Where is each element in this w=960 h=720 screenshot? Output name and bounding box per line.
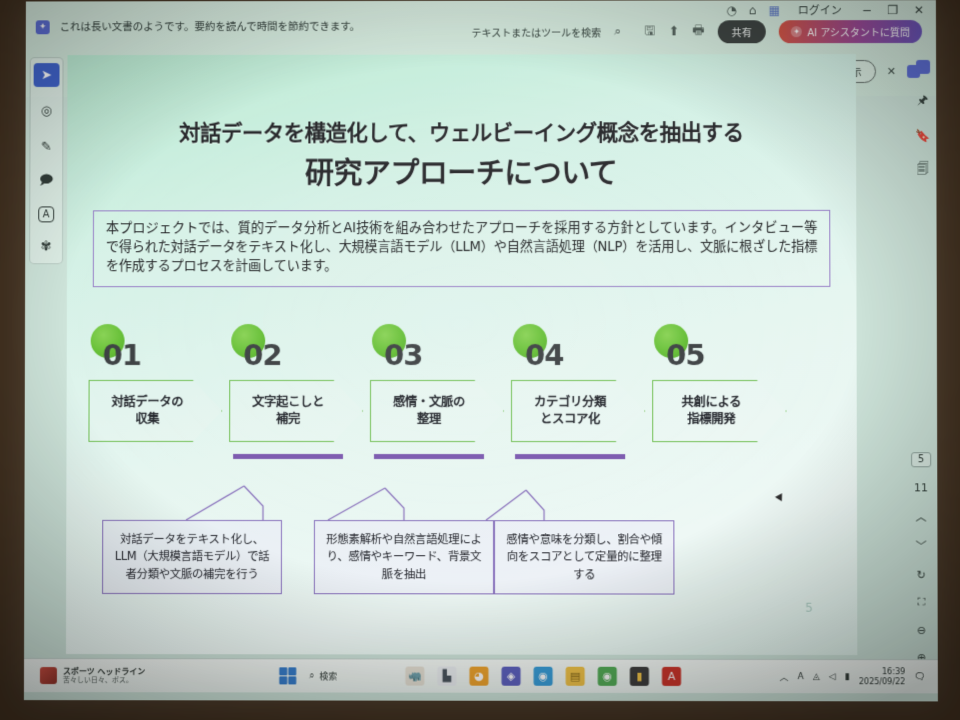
clock-date: 2025/09/22 [859,677,905,687]
edge-app-icon[interactable]: ◉ [534,667,553,686]
page-navigation-controls: 5 11 ︿ ﹀ ↻ ⛶ ⊖ ⊕ [911,452,932,664]
draw-tool[interactable]: ✎ [33,135,59,159]
taskbar-clock[interactable]: 16:39 2025/09/22 [859,667,905,686]
print-icon[interactable]: 🖶 [692,21,704,43]
chevron-down-icon[interactable]: ﹀ [916,539,927,555]
teams-app-icon[interactable]: ◈ [502,667,521,686]
projected-screen-photo: ◔ ⌂ ▦ ログイン − ❐ ✕ ✦ これは長い文書のようです。要約を読んで時間… [0,0,960,720]
ai-assistant-icon[interactable] [916,60,930,74]
system-tray: ︿ A ◬ ◁ ▮ 16:39 2025/09/22 🗨 [779,667,925,686]
slide-main-title: 研究アプローチについて [67,150,856,193]
step-chevron: 対話データの収集 [88,380,222,442]
step-underline [374,454,484,459]
ime-indicator[interactable]: A [798,672,804,682]
volume-icon[interactable]: ◁ [829,672,836,682]
select-tool[interactable]: ➤ [34,63,60,87]
windows-start-icon[interactable] [279,667,296,684]
annotation-toolbar: ➤ ◎ ✎ 🗩 A ✾ [29,57,63,264]
file-explorer-icon[interactable]: ▤ [566,667,585,686]
step-chevron: 感情・文脈の整理 [370,380,504,442]
bell-icon[interactable]: ⌂ [749,3,757,17]
zoom-out-icon[interactable]: ⊖ [917,624,926,637]
step-label: 対話データの収集 [111,394,199,427]
window-controls: ◔ ⌂ ▦ ログイン − ❐ ✕ [726,2,926,18]
maximize-button[interactable]: ❐ [886,3,900,17]
clock-time: 16:39 [859,667,905,677]
toolbar-actions: テキストまたはツールを検索 ⌕ 🖫 ⬆ 🖶 共有 ✦ AI アシスタントに質問 [472,20,922,44]
computer-screen: ◔ ⌂ ▦ ログイン − ❐ ✕ ✦ これは長い文書のようです。要約を読んで時間… [24,0,938,701]
sports-widget-icon [40,667,57,684]
pdf-slide-page[interactable]: 対話データを構造化して、ウェルビーイング概念を抽出する 研究アプローチについて … [66,54,857,655]
step-number: 04 [525,338,563,372]
intro-paragraph: 本プロジェクトでは、質的データ分析とAI技術を組み合わせたアプローチを採用する方… [106,219,818,277]
share-button[interactable]: 共有 [718,20,767,43]
attachment-icon[interactable]: 🖈 [917,91,928,112]
apps-icon[interactable]: ▦ [768,3,779,17]
sparkle-icon: ✦ [791,26,802,37]
bookmark-icon[interactable]: 🔖 [915,129,930,143]
acrobat-app-icon[interactable]: A [662,667,681,686]
search-icon[interactable]: ⌕ [614,24,621,39]
notification-icon[interactable]: 🗨 [914,672,926,682]
widget-subtitle: 苦々しい日々、ボス。 [63,676,146,684]
chrome-app-icon[interactable]: ◉ [598,667,617,686]
intro-paragraph-box: 本プロジェクトでは、質的データ分析とAI技術を組み合わせたアプローチを採用する方… [93,210,831,288]
step-detail-callouts: 対話データをテキスト化し、LLM（大規模言語モデル）で話者分類や文脈の補完を行う… [66,482,857,633]
slide-page-number: 5 [805,601,813,615]
tray-overflow-icon[interactable]: ︿ [779,670,788,683]
stamp-tool[interactable]: ✾ [33,234,59,258]
step-label: カテゴリ分類とスコア化 [534,394,622,427]
slide-subtitle-line: 対話データを構造化して、ウェルビーイング概念を抽出する [67,116,856,148]
callout-box-1: 対話データをテキスト化し、LLM（大規模言語モデル）で話者分類や文脈の補完を行う [102,520,282,594]
callout-box-3: 感情や意味を分類し、割合や傾向をスコアとして定量的に整理する [494,520,674,594]
analytics-app-icon[interactable]: ▙ [437,667,456,686]
upload-icon[interactable]: ⬆ [668,24,679,39]
pages-icon[interactable]: 🗐 [917,160,929,181]
step-number: 01 [103,338,141,372]
search-input[interactable]: テキストまたはツールを検索 [472,24,602,39]
step-label: 感情・文脈の整理 [393,394,481,427]
save-icon[interactable]: 🖫 [644,21,655,43]
process-steps: 01 対話データの収集 02 文字起こしと補完 03 感情・文脈の整理 04 [66,324,857,484]
rhino-app-icon[interactable]: 🦏 [405,667,424,686]
step-chevron: 文字起こしと補完 [229,380,363,442]
close-icon[interactable]: ✕ [887,65,896,78]
step-label: 共創による指標開発 [681,394,757,427]
battery-icon[interactable]: ▮ [845,672,850,682]
login-button[interactable]: ログイン [798,2,842,18]
ai-assistant-button[interactable]: ✦ AI アシスタントに質問 [779,20,922,43]
ai-assistant-icon: ✦ [36,20,50,34]
windows-taskbar: スポーツ ヘッドライン 苦々しい日々、ボス。 ⌕ 検索 🦏 ▙ ◕ ◈ ◉ ▤ … [24,658,938,693]
help-icon[interactable]: ◔ [726,3,737,17]
total-pages-label: 11 [914,481,928,494]
search-icon: ⌕ [309,671,314,681]
current-page-input[interactable]: 5 [911,452,932,467]
step-underline [515,454,625,459]
step-chevron: 共創による指標開発 [652,380,786,442]
summary-suggestion-banner: ✦ これは長い文書のようです。要約を読んで時間を節約できます。 [36,19,360,34]
office-app-icon[interactable]: ◕ [470,667,489,686]
taskbar-widget[interactable]: スポーツ ヘッドライン 苦々しい日々、ボス。 [40,667,146,684]
right-tool-rail: 🖈 🔖 🗐 [915,60,930,181]
taskbar-center: ⌕ 検索 🦏 ▙ ◕ ◈ ◉ ▤ ◉ ▮ A [279,666,681,686]
close-button[interactable]: ✕ [912,3,926,17]
taskbar-app-icons: 🦏 ▙ ◕ ◈ ◉ ▤ ◉ ▮ A [405,667,681,686]
step-underline [233,454,343,459]
callout-text: 対話データをテキスト化し、LLM（大規模言語モデル）で話者分類や文脈の補完を行う [110,531,274,583]
taskbar-search[interactable]: ⌕ 検索 [309,669,337,682]
callout-text: 形態素解析や自然言語処理により、感情やキーワード、背景文脈を抽出 [322,531,486,583]
rotate-icon[interactable]: ↻ [917,569,926,582]
textbox-tool[interactable]: A [38,206,54,222]
chevron-up-icon[interactable]: ︿ [916,508,927,524]
callout-text: 感情や意味を分類し、割合や傾向をスコアとして定量的に整理する [502,532,666,584]
taskbar-search-label: 検索 [319,669,337,682]
step-number: 02 [243,338,281,372]
step-chevron: カテゴリ分類とスコア化 [511,380,645,442]
step-number: 05 [666,338,704,372]
banner-text: これは長い文書のようです。要約を読んで時間を節約できます。 [60,19,361,34]
step-number: 03 [384,338,422,372]
fit-page-icon[interactable]: ⛶ [917,596,925,610]
wifi-icon[interactable]: ◬ [813,672,820,682]
widget-title: スポーツ ヘッドライン [63,667,146,676]
comment-tool[interactable]: 🗩 [33,171,59,195]
highlight-tool[interactable]: ◎ [34,99,60,123]
slide-title: 対話データを構造化して、ウェルビーイング概念を抽出する 研究アプローチについて [67,116,856,193]
callout-box-2: 形態素解析や自然言語処理により、感情やキーワード、背景文脈を抽出 [314,520,494,594]
ai-assistant-label: AI アシスタントに質問 [807,24,910,39]
minimize-button[interactable]: − [860,3,874,17]
notepad-app-icon[interactable]: ▮ [630,667,649,686]
window-title [155,0,484,11]
step-label: 文字起こしと補完 [252,394,340,427]
